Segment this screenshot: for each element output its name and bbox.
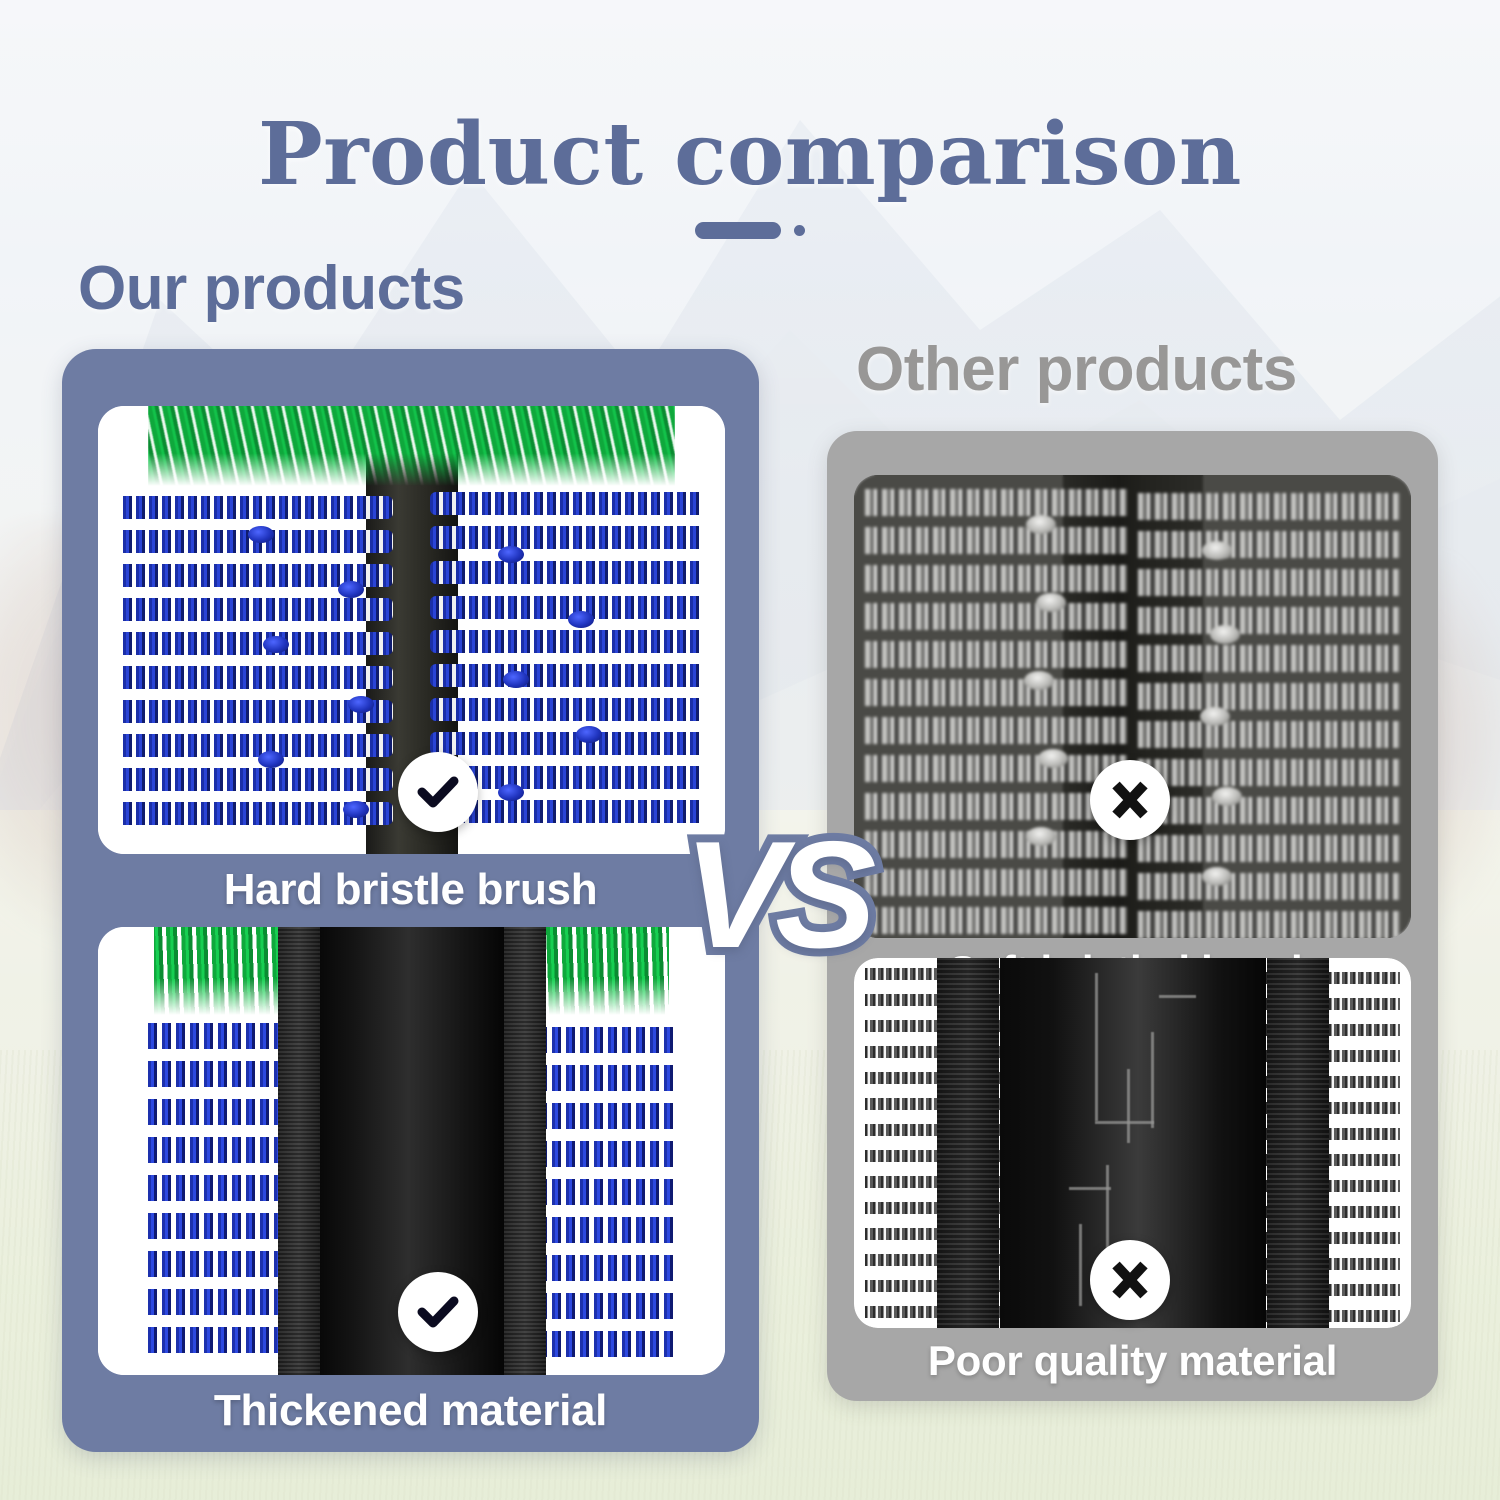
brush-strip-right-gray <box>1267 958 1329 1328</box>
divider-bar-icon <box>695 222 781 239</box>
brush-strip-left <box>278 927 320 1375</box>
title-divider <box>0 222 1500 239</box>
cross-badge-soft-bristled <box>1090 760 1170 840</box>
image-soft-bristled-brush <box>854 475 1411 938</box>
infographic-canvas: Product comparison Our products Other pr… <box>0 0 1500 1500</box>
card-soft-bristled-brush[interactable] <box>854 475 1411 938</box>
section-heading-other: Other products <box>856 334 1297 405</box>
check-badge-hard-bristle <box>398 752 478 832</box>
cross-badge-poor-quality <box>1090 1240 1170 1320</box>
brush-strip-right <box>504 927 546 1375</box>
section-heading-ours: Our products <box>78 253 465 324</box>
versus-emblem: VS <box>660 800 890 990</box>
close-icon <box>1109 779 1151 821</box>
divider-dot-icon <box>794 225 805 236</box>
check-badge-thickened-material <box>398 1272 478 1352</box>
page-title: Product comparison <box>0 104 1500 205</box>
caption-hard-bristle-brush: Hard bristle brush <box>62 865 759 915</box>
close-icon <box>1109 1259 1151 1301</box>
brush-green-tips <box>148 406 675 486</box>
brush-strip-left-gray <box>937 958 999 1328</box>
check-icon <box>415 769 461 815</box>
check-icon <box>415 1289 461 1335</box>
caption-poor-quality-material: Poor quality material <box>827 1337 1438 1385</box>
caption-thickened-material: Thickened material <box>62 1386 759 1436</box>
image-soft-focus-overlay <box>854 475 1411 938</box>
